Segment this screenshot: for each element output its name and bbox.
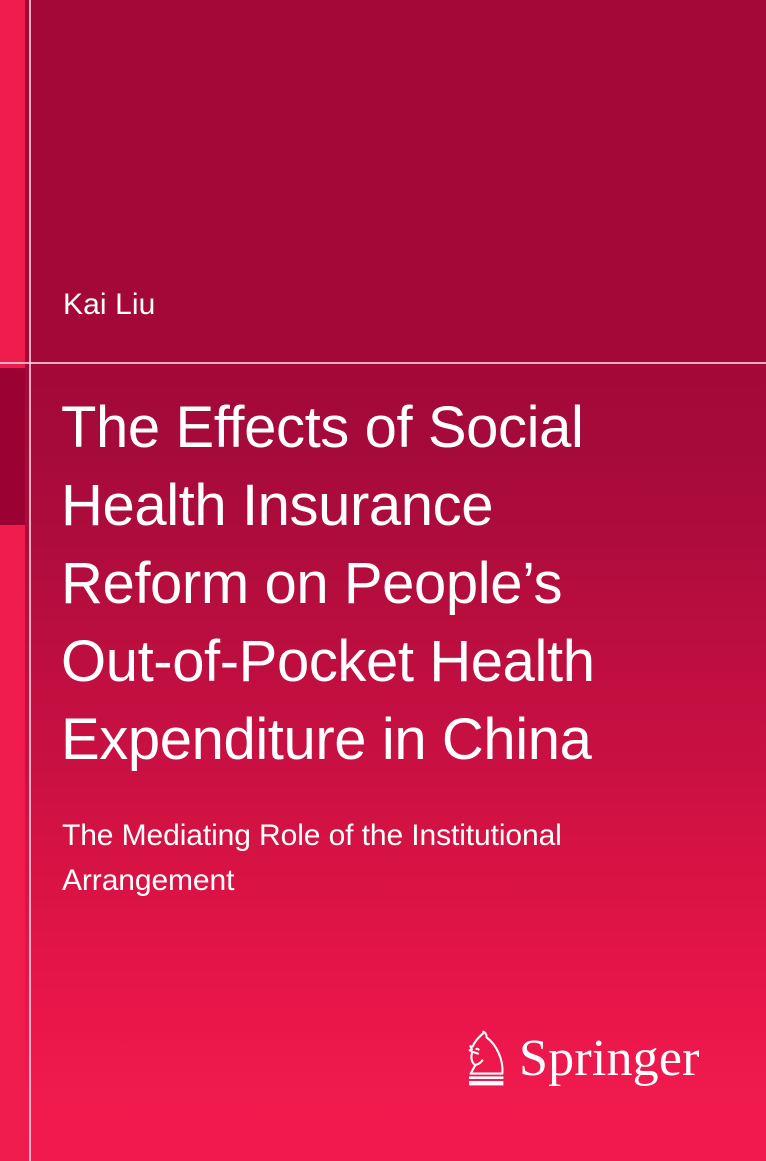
springer-knight-icon (466, 1030, 508, 1088)
title-line: The Effects of Social (61, 389, 701, 467)
left-accent-strip-dark-block (0, 368, 25, 525)
book-cover: Kai Liu The Effects of Social Health Ins… (0, 0, 766, 1161)
vertical-rule (29, 0, 31, 1161)
title-line: Reform on People’s (61, 545, 701, 623)
book-title: The Effects of Social Health Insurance R… (61, 389, 701, 779)
horizontal-rule (0, 362, 766, 364)
title-line: Expenditure in China (61, 701, 701, 779)
title-line: Out-of-Pocket Health (61, 623, 701, 701)
subtitle-line: Arrangement (62, 858, 702, 903)
publisher-name: Springer (519, 1033, 700, 1085)
author-name: Kai Liu (63, 288, 155, 322)
subtitle-line: The Mediating Role of the Institutional (62, 813, 702, 858)
left-accent-strip (0, 0, 25, 1161)
title-line: Health Insurance (61, 467, 701, 545)
book-subtitle: The Mediating Role of the Institutional … (62, 813, 702, 903)
publisher-logo: Springer (466, 1026, 700, 1088)
